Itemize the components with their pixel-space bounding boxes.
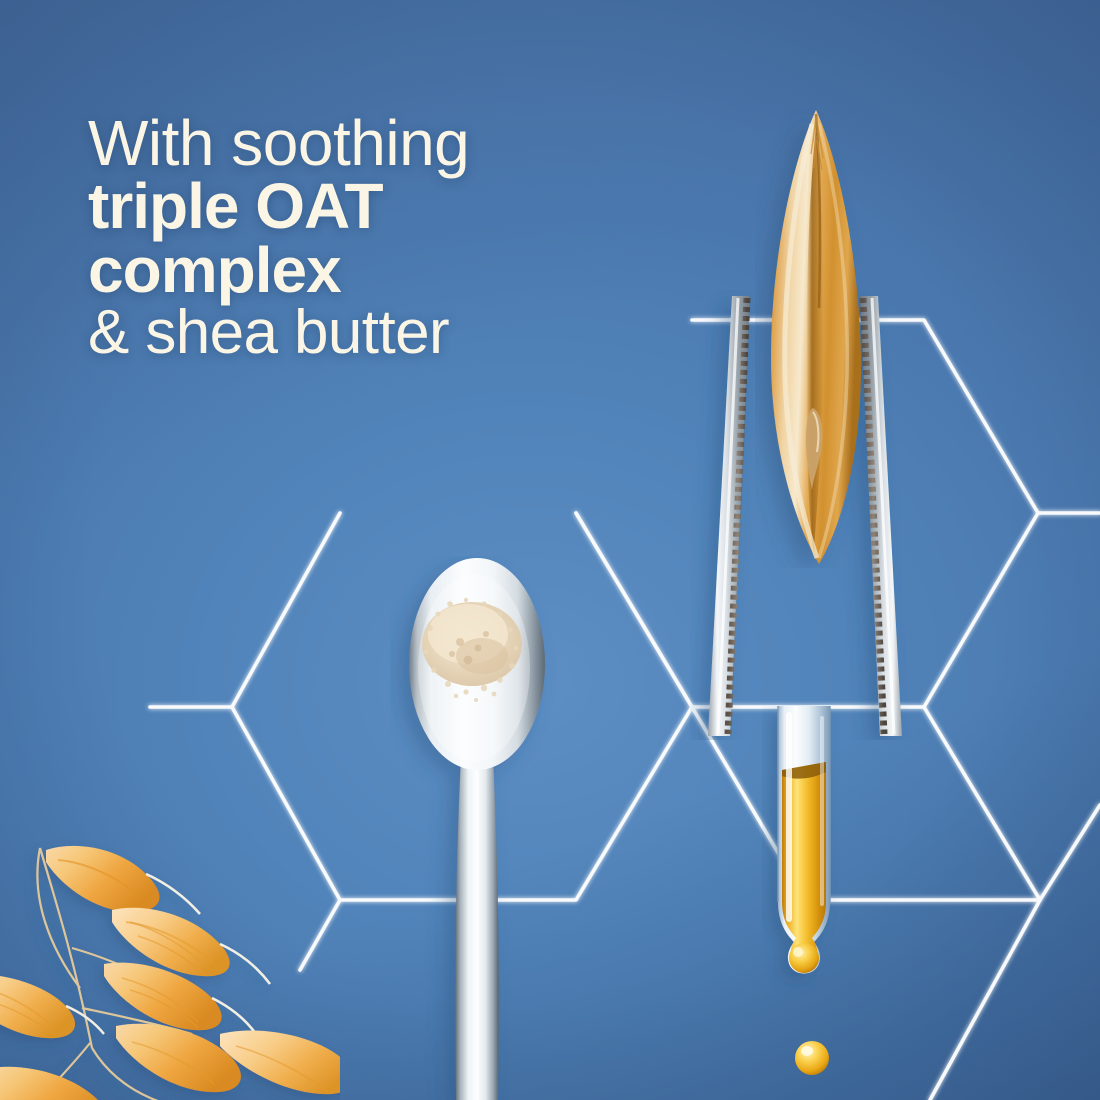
oat-stalk-group — [0, 846, 340, 1100]
pendant-oil-bulb — [789, 943, 819, 973]
dropper-body — [778, 706, 830, 974]
headline-line-1: With soothing — [88, 112, 688, 175]
oat-grain-body — [771, 110, 861, 564]
headline-line-2: triple OAT — [88, 175, 688, 238]
spoon-with-oat-powder — [390, 556, 565, 1100]
headline-line-4: & shea butter — [88, 302, 688, 363]
promo-image-canvas: With soothing triple OAT complex & shea … — [0, 0, 1100, 1100]
page-title: With soothing triple OAT complex & shea … — [88, 112, 688, 363]
oat-stalks — [0, 818, 340, 1100]
glass-dropper-with-oil — [762, 706, 846, 1006]
oil-droplet — [793, 1038, 831, 1078]
headline-line-3: complex — [88, 239, 688, 302]
oat-grain — [755, 108, 877, 568]
